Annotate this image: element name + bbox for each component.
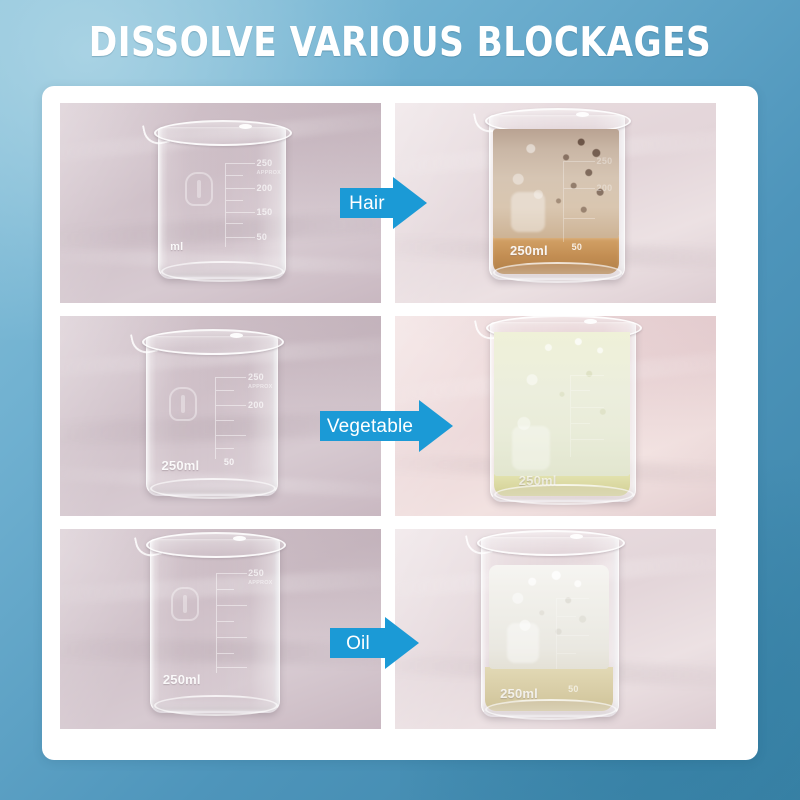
tick-200: [571, 407, 605, 408]
graduation-scale: 250 APPROX 200 150 50: [225, 163, 264, 247]
glass-reflection: [507, 623, 539, 663]
graduation-scale: 250 APPROX 200: [215, 377, 255, 459]
grad-label-50: 50: [572, 242, 583, 252]
grad-label-200: 200: [248, 400, 264, 410]
tick-200: [226, 188, 255, 189]
beaker-volume-label: 250ml: [163, 672, 201, 687]
beaker-logo-icon: [171, 587, 199, 621]
beaker-base: [150, 478, 276, 499]
cell-hair-before[interactable]: 250 APPROX 200 150 50 ml: [60, 103, 381, 303]
arrow-oil-head: [385, 617, 419, 669]
beaker-volume-label: 250ml: [510, 243, 548, 258]
tick-minor: [557, 616, 576, 617]
tick-50: [217, 667, 247, 668]
grad-label-50: 50: [568, 684, 579, 694]
tick-200: [217, 605, 247, 606]
beaker-oil-before: 250 APPROX: [150, 539, 278, 711]
photo-oil-after: 250ml 50: [395, 529, 716, 729]
arrow-vegetable-label: Vegetable: [327, 417, 413, 436]
grad-label-approx: APPROX: [248, 580, 272, 586]
grad-label-50: 50: [257, 232, 268, 242]
beaker-base: [493, 262, 623, 283]
grad-label-250: 250: [257, 158, 273, 168]
cell-hair-after[interactable]: 250 200 250ml 50: [395, 103, 716, 303]
arrow-vegetable[interactable]: Vegetable: [320, 411, 453, 441]
beaker-base: [154, 695, 278, 716]
tick-250: [217, 573, 247, 574]
arrow-hair-head: [393, 177, 427, 229]
graduation-scale: 250 200: [563, 161, 604, 243]
grad-label-250: 250: [597, 155, 613, 165]
beaker-logo-icon: [185, 172, 213, 206]
tick-150: [217, 637, 247, 638]
tick-200: [564, 188, 595, 189]
arrow-hair-label: Hair: [349, 194, 385, 213]
tick-minor: [217, 621, 235, 622]
tick-200: [216, 405, 246, 406]
grad-label-250: 250: [248, 372, 264, 382]
arrow-vegetable-shaft[interactable]: Vegetable: [320, 411, 420, 441]
beaker-rim: [154, 120, 292, 146]
beaker-volume-label: 250ml: [161, 458, 199, 473]
tick-minor: [217, 653, 235, 654]
tick-minor: [557, 653, 576, 654]
glass-reflection: [511, 192, 545, 232]
beaker-rim: [146, 532, 286, 558]
arrow-hair-shaft[interactable]: Hair: [340, 188, 394, 218]
promo-poster: DISSOLVE VARIOUS BLOCKAGES 250 APPR: [0, 0, 800, 800]
tick-150: [571, 439, 605, 440]
graduation-scale: 250 APPROX: [216, 573, 255, 673]
tick-150: [226, 212, 255, 213]
beaker-hair-before: 250 APPROX 200 150 50 ml: [158, 127, 284, 277]
beaker-base: [485, 699, 617, 720]
tick-150: [216, 435, 246, 436]
beaker-oil-after: 250ml 50: [481, 537, 617, 715]
beaker-rim: [142, 329, 284, 355]
photo-hair-before: 250 APPROX 200 150 50 ml: [60, 103, 381, 303]
tick-minor: [216, 448, 234, 449]
beaker-glass: [158, 127, 286, 279]
grad-label-200: 200: [257, 183, 273, 193]
graduation-scale: [570, 375, 614, 457]
page-title: DISSOLVE VARIOUS BLOCKAGES: [28, 18, 772, 66]
graduation-scale: [556, 598, 598, 669]
arrow-oil[interactable]: Oil: [330, 628, 419, 658]
beaker-unit-label: ml: [170, 241, 183, 253]
grad-label-50: 50: [224, 457, 235, 467]
beaker-vegetable-after: 250ml: [490, 322, 634, 500]
beaker-base: [494, 484, 633, 505]
beaker-logo-icon: [169, 387, 197, 421]
tick-minor: [226, 200, 243, 201]
arrow-oil-shaft[interactable]: Oil: [330, 628, 386, 658]
tick-250: [226, 163, 255, 164]
tick-minor: [217, 589, 235, 590]
tick-minor: [226, 175, 243, 176]
grad-label-approx: APPROX: [257, 170, 281, 176]
grad-label-150: 150: [257, 207, 273, 217]
tick-minor: [216, 420, 234, 421]
tick-minor: [571, 390, 591, 391]
glass-reflection: [512, 426, 550, 470]
beaker-base: [161, 261, 283, 282]
cell-oil-after[interactable]: 250ml 50: [395, 529, 716, 729]
tick-minor: [571, 423, 591, 424]
tick-250: [571, 375, 605, 376]
arrow-vegetable-head: [419, 400, 453, 452]
tick-minor: [226, 223, 243, 224]
tick-150: [564, 218, 595, 219]
tick-200: [557, 635, 589, 636]
grad-label-approx: APPROX: [248, 384, 272, 390]
grad-label-250: 250: [248, 568, 264, 578]
tick-minor: [216, 390, 234, 391]
arrow-oil-label: Oil: [346, 634, 370, 653]
tick-250: [216, 377, 246, 378]
beaker-vegetable-before: 250 APPROX 200: [146, 336, 276, 494]
arrow-hair[interactable]: Hair: [340, 188, 427, 218]
beaker-hair-after: 250 200 250ml 50: [489, 115, 623, 278]
tick-50: [226, 237, 255, 238]
grad-label-200: 200: [597, 183, 613, 193]
photo-hair-after: 250 200 250ml 50: [395, 103, 716, 303]
tick-250: [564, 161, 595, 162]
tick-250: [557, 598, 589, 599]
